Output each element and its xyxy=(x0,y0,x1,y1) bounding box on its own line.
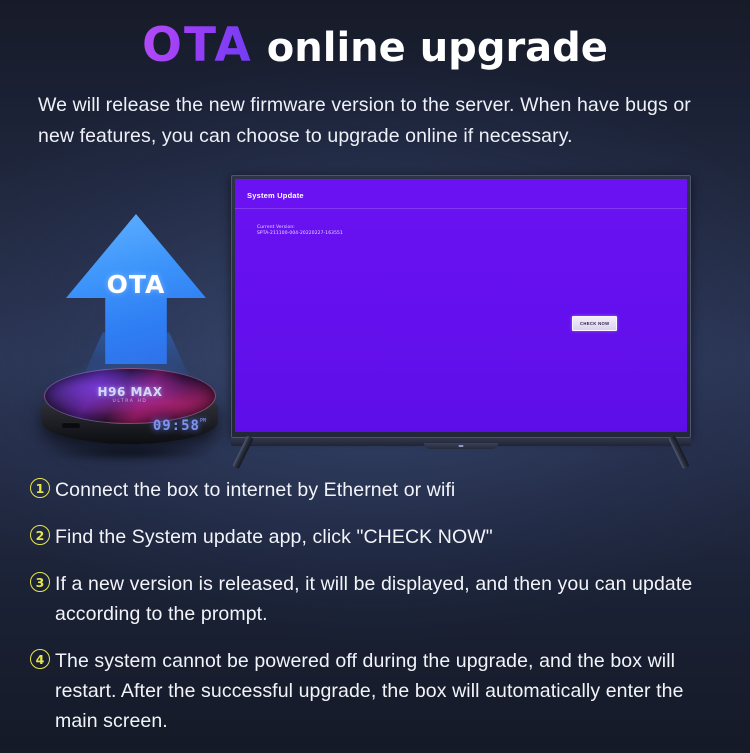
device-drop-shadow xyxy=(46,446,212,460)
intro-paragraph: We will release the new firmware version… xyxy=(38,90,728,152)
device-brand-sub: ULTRA HD xyxy=(45,399,215,404)
tv-bezel: System Update Current Version: SPTA-2111… xyxy=(231,175,691,438)
device-brand-logo: H96 MAX xyxy=(45,385,215,399)
step-number-badge: 1 xyxy=(30,478,50,498)
tv-screen: System Update Current Version: SPTA-2111… xyxy=(235,179,687,432)
step-text: Connect the box to internet by Ethernet … xyxy=(55,475,455,505)
tv-indicator-light xyxy=(459,445,464,447)
page-title-highlight: OTA xyxy=(142,18,253,73)
current-version-block: Current Version: SPTA-211100-004-2022022… xyxy=(257,225,343,238)
step-number-badge: 4 xyxy=(30,649,50,669)
ota-upload-arrow: OTA xyxy=(66,214,206,364)
list-item: 1 Connect the box to internet by Etherne… xyxy=(30,475,720,505)
list-item: 3 If a new version is released, it will … xyxy=(30,569,720,629)
header-divider xyxy=(235,208,687,209)
step-number-badge: 3 xyxy=(30,572,50,592)
step-text: The system cannot be powered off during … xyxy=(55,646,710,736)
step-text: Find the System update app, click "CHECK… xyxy=(55,522,493,552)
page-title: OTA online upgrade xyxy=(0,18,750,73)
current-version-value: SPTA-211100-004-20220227-163551 xyxy=(257,231,343,237)
device-led-time: 09:58 xyxy=(153,418,200,434)
television: System Update Current Version: SPTA-2111… xyxy=(231,175,691,438)
step-number-badge: 2 xyxy=(30,525,50,545)
device-port xyxy=(62,422,80,428)
step-text: If a new version is released, it will be… xyxy=(55,569,710,629)
tv-box-device: H96 MAX ULTRA HD 09:58PM xyxy=(36,362,222,460)
list-item: 2 Find the System update app, click "CHE… xyxy=(30,522,720,552)
device-top-surface: H96 MAX ULTRA HD xyxy=(44,368,216,424)
system-update-title: System Update xyxy=(247,191,304,200)
page-title-rest: online upgrade xyxy=(267,25,608,71)
instruction-steps: 1 Connect the box to internet by Etherne… xyxy=(30,475,720,753)
device-led-display: 09:58PM xyxy=(153,418,206,434)
list-item: 4 The system cannot be powered off durin… xyxy=(30,646,720,736)
arrow-label: OTA xyxy=(66,270,206,299)
device-led-meridiem: PM xyxy=(200,418,206,424)
check-now-button[interactable]: CHECK NOW xyxy=(572,316,617,331)
